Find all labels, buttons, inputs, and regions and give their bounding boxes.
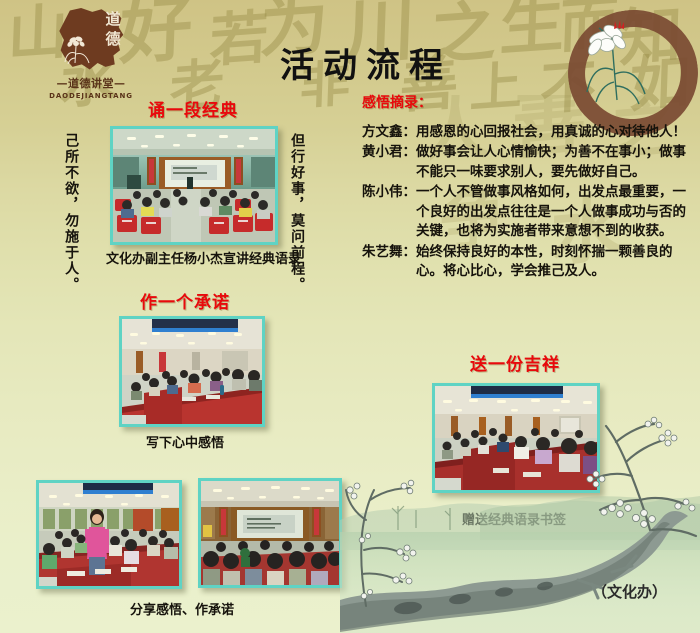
logo-name: —道德讲堂— [40,75,142,91]
signature-label: （文化办） [592,581,667,602]
quotes-heading: 感悟摘录： [362,92,432,112]
logo-char-dao: 道 [104,12,122,27]
section-heading-promise: 作一个承诺 [140,288,230,313]
photo-writing-image [122,319,262,424]
photo-hall-image [201,481,339,585]
photo-writing [119,316,265,427]
photo-hall [198,478,342,588]
logo-mark: 道 德 [52,8,130,74]
logo-char-de: 德 [104,32,122,47]
quote-text: 一个人不管做事风格如何，出发点最重要，一个良好的出发点往往是一个人做事成功与否的… [416,183,692,241]
quote-text: 始终保持良好的本性，时刻怀揣一颗善良的心。将心比心，学会推己及人。 [416,243,692,282]
photo-bookmark-image [435,386,597,490]
photo-bookmark [432,383,600,493]
brand-logo: 道 德 —道德讲堂— DAODEJIANGTANG [40,8,142,104]
quote-speaker: 陈小伟： [362,183,416,241]
orchid-illustration [565,8,675,106]
photo-sharing-image [39,483,179,586]
caption-lecture: 文化办副主任杨小杰宣讲经典语录 [106,248,301,267]
quotes-block: 方文鑫： 用感恩的心回报社会，用真诚的心对待他人！ 黄小君： 做好事会让人心情愉… [362,123,692,283]
quote-text: 用感恩的心回报社会，用真诚的心对待他人！ [416,123,692,142]
quote-item: 黄小君： 做好事会让人心情愉快；为善不在事小；做事不能只一味要求别人，要先做好自… [362,143,692,182]
caption-bookmark: 赠送经典语录书签 [462,509,566,528]
caption-sharing: 分享感悟、作承诺 [130,599,234,618]
couplet-left: 己所不欲，勿施于人。 [62,133,79,233]
page-title: 活动流程 [280,38,452,87]
photo-lecture-image [113,129,275,242]
quote-item: 陈小伟： 一个人不管做事风格如何，出发点最重要，一个良好的出发点往往是一个人做事… [362,183,692,241]
quote-speaker: 方文鑫： [362,123,416,142]
section-heading-gift: 送一份吉祥 [470,350,560,375]
quote-item: 朱艺舞： 始终保持良好的本性，时刻怀揣一颗善良的心。将心比心，学会推己及人。 [362,243,692,282]
logo-pinyin: DAODEJIANGTANG [40,92,142,100]
photo-lecture [110,126,278,245]
quote-speaker: 黄小君： [362,143,416,182]
orchid-icon [64,34,90,64]
quote-speaker: 朱艺舞： [362,243,416,282]
couplet-right: 但行好事，莫问前程。 [288,133,305,233]
quote-text: 做好事会让人心情愉快；为善不在事小；做事不能只一味要求别人，要先做好自己。 [416,143,692,182]
quote-item: 方文鑫： 用感恩的心回报社会，用真诚的心对待他人！ [362,123,692,142]
caption-writing: 写下心中感悟 [146,432,224,451]
photo-sharing [36,480,182,589]
section-heading-recite: 诵一段经典 [148,96,238,121]
orchid-circle-emblem [565,8,675,106]
poster-canvas: 山 好 若 为 川 之 生 而 知 水 老 非 善 上 不 如 人 善 之 争 … [0,0,700,633]
